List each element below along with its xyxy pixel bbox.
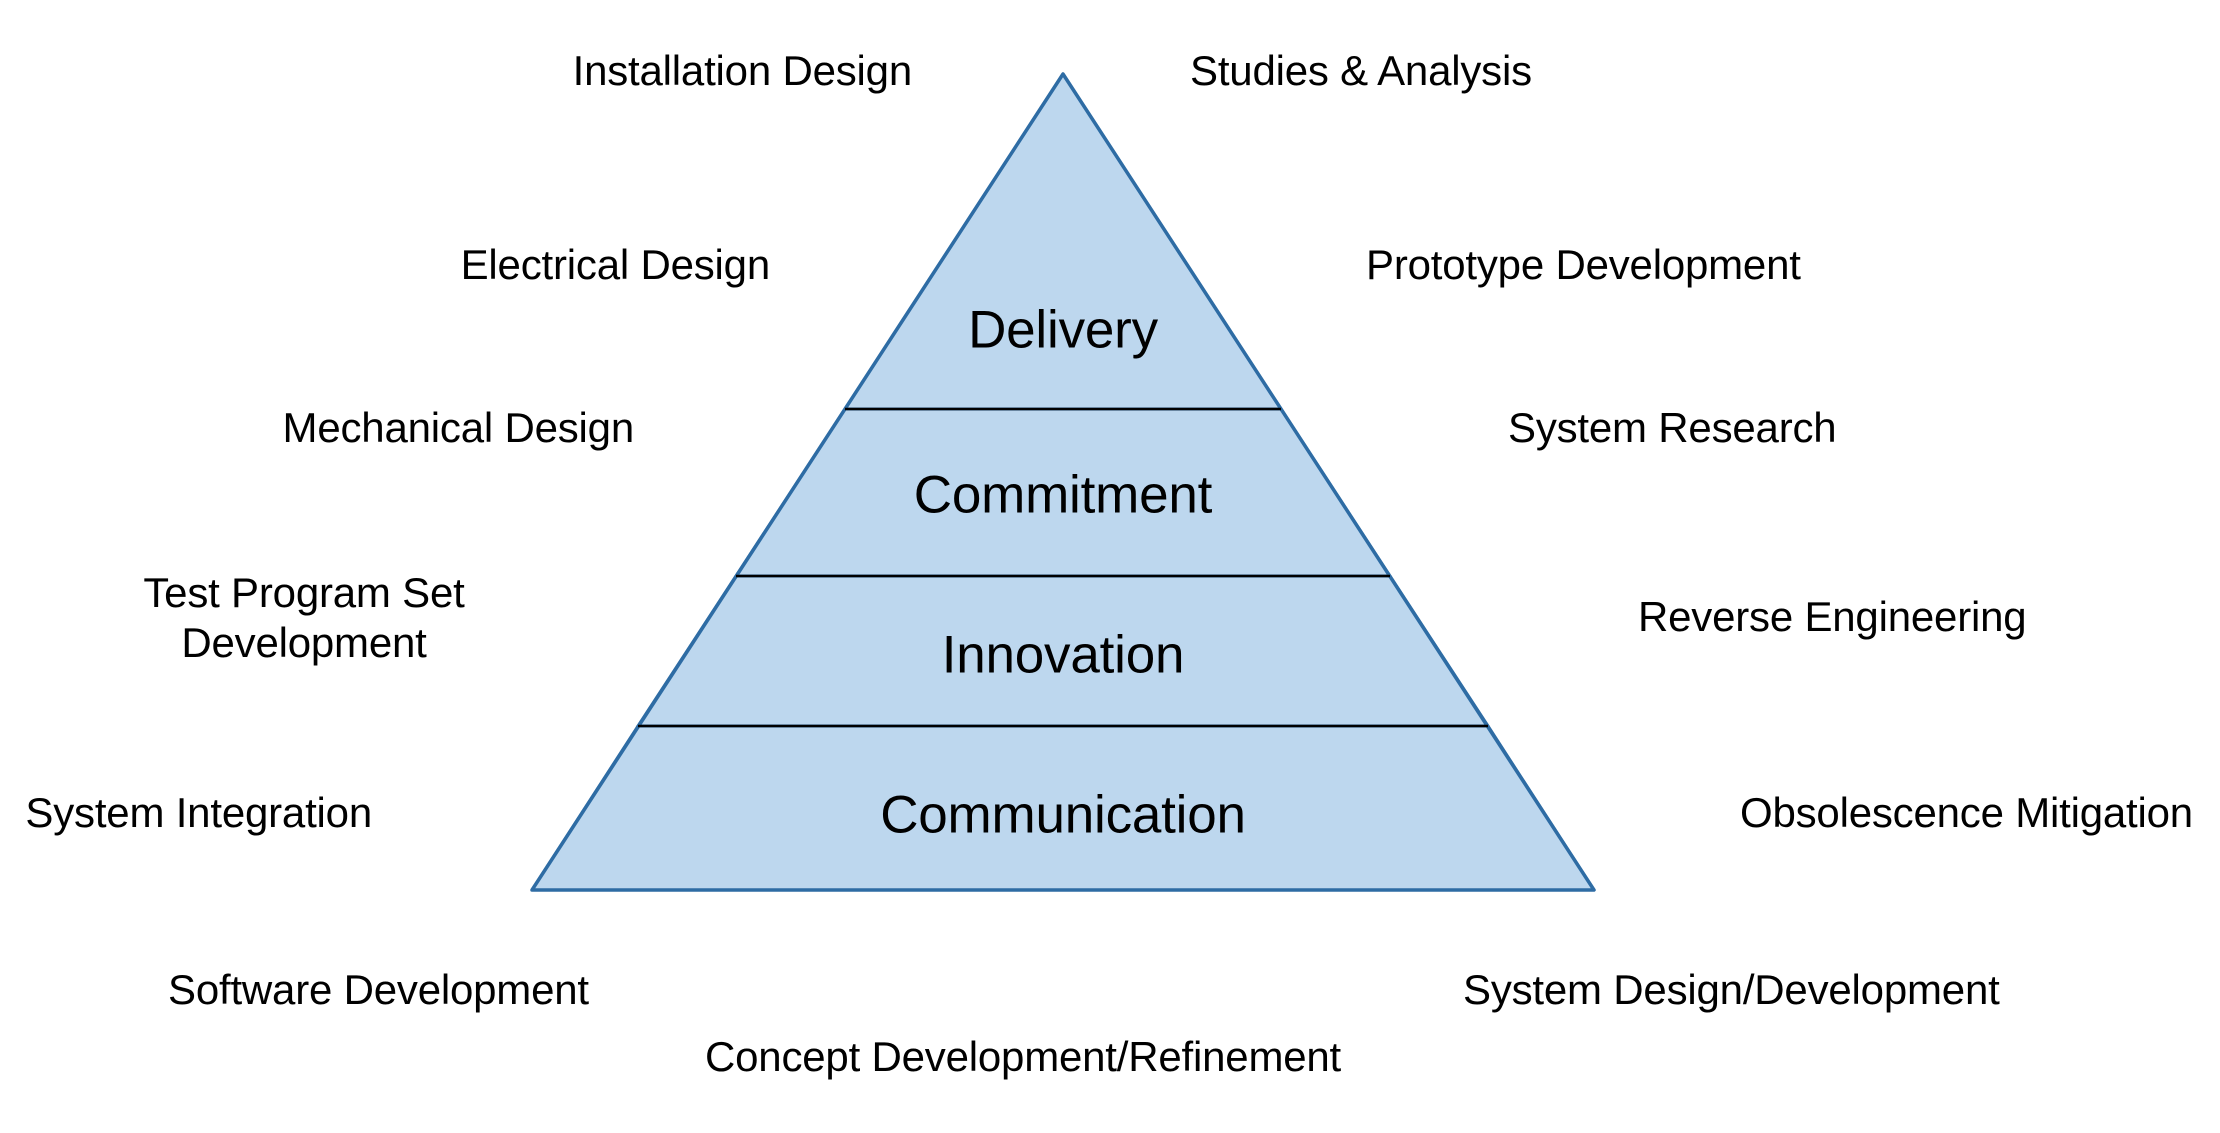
diagram-canvas: Delivery Commitment Innovation Communica… bbox=[0, 0, 2220, 1133]
pyramid-level-commitment-label: Commitment bbox=[914, 465, 1212, 526]
capability-label-electrical-design: Electrical Design bbox=[461, 240, 770, 290]
capability-label-prototype-development: Prototype Development bbox=[1366, 240, 1801, 290]
capability-label-software-development: Software Development bbox=[168, 965, 589, 1015]
capability-label-studies-analysis: Studies & Analysis bbox=[1190, 46, 1532, 96]
pyramid-level-innovation-label: Innovation bbox=[942, 625, 1185, 686]
capability-label-system-integration: System Integration bbox=[25, 788, 372, 838]
capability-label-installation-design: Installation Design bbox=[573, 46, 912, 96]
pyramid-graphic bbox=[0, 0, 2220, 1133]
capability-label-reverse-engineering: Reverse Engineering bbox=[1638, 592, 2026, 642]
pyramid-level-communication-label: Communication bbox=[880, 785, 1246, 846]
capability-label-test-program-set-development: Test Program Set Development bbox=[130, 568, 478, 667]
capability-label-system-design-development: System Design/Development bbox=[1463, 965, 2000, 1015]
capability-label-obsolescence-mitigation: Obsolescence Mitigation bbox=[1740, 788, 2193, 838]
capability-label-mechanical-design: Mechanical Design bbox=[283, 403, 634, 453]
capability-label-system-research: System Research bbox=[1508, 403, 1836, 453]
capability-label-concept-development-refinement: Concept Development/Refinement bbox=[705, 1032, 1341, 1082]
pyramid-level-delivery-label: Delivery bbox=[968, 300, 1158, 361]
